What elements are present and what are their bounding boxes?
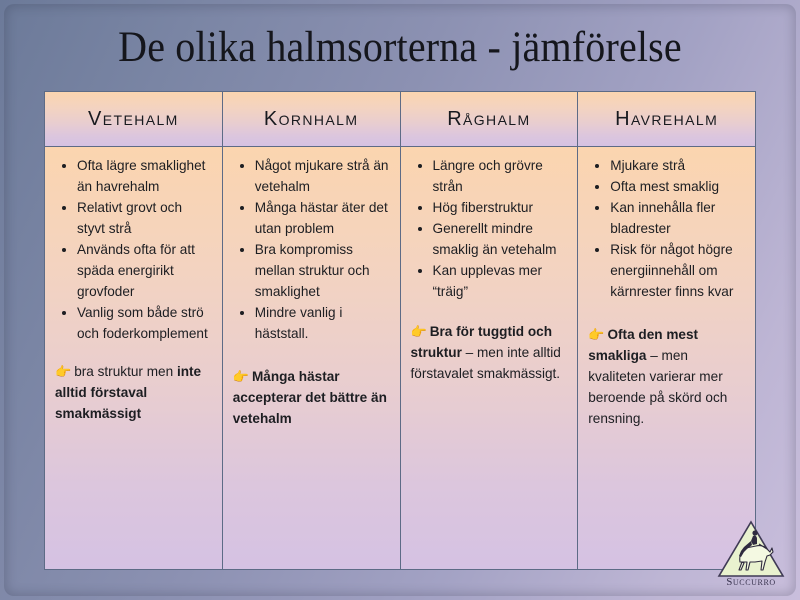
summary-note: 👉Ofta den mest smakliga – men kvaliteten… bbox=[588, 324, 745, 429]
list-item: Kan innehålla fler bladrester bbox=[610, 197, 745, 239]
bullet-list: Mjukare strå Ofta mest smaklig Kan inneh… bbox=[588, 155, 745, 302]
list-item: Generellt mindre smaklig än vetehalm bbox=[433, 218, 568, 260]
bullet-list: Något mjukare strå än vetehalm Många häs… bbox=[233, 155, 390, 344]
column-header-label: Havrehalm bbox=[615, 108, 718, 131]
list-item: Ofta mest smaklig bbox=[610, 176, 745, 197]
column-header-label: Vetehalm bbox=[88, 108, 179, 131]
list-item: Kan upplevas mer “träig” bbox=[433, 260, 568, 302]
table-header-cell-havrehalm: Havrehalm bbox=[578, 92, 755, 147]
summary-lead: bra struktur men bbox=[74, 364, 177, 379]
list-item: Ofta lägre smaklighet än havrehalm bbox=[77, 155, 212, 197]
table-header-cell-raghalm: Råghalm bbox=[401, 92, 579, 147]
summary-note: 👉Bra för tuggtid och struktur – men inte… bbox=[411, 321, 568, 384]
pointing-hand-icon: 👉 bbox=[55, 364, 71, 379]
list-item: Något mjukare strå än vetehalm bbox=[255, 155, 390, 197]
logo: Succurro bbox=[715, 518, 787, 590]
table-body-row: Ofta lägre smaklighet än havrehalm Relat… bbox=[45, 147, 755, 569]
list-item: Hög fiberstruktur bbox=[433, 197, 568, 218]
list-item: Mjukare strå bbox=[610, 155, 745, 176]
list-item: Många hästar äter det utan problem bbox=[255, 197, 390, 239]
list-item: Vanlig som både strö och foderkomplement bbox=[77, 302, 212, 344]
page-title: De olika halmsorterna - jämförelse bbox=[28, 22, 772, 74]
list-item: Bra kompromiss mellan struktur och smakl… bbox=[255, 239, 390, 302]
slide: De olika halmsorterna - jämförelse Veteh… bbox=[0, 0, 800, 600]
list-item: Relativt grovt och styvt strå bbox=[77, 197, 212, 239]
logo-caption: Succurro bbox=[715, 576, 787, 588]
bullet-list: Ofta lägre smaklighet än havrehalm Relat… bbox=[55, 155, 212, 344]
list-item: Risk för något högre energiinnehåll om k… bbox=[610, 239, 745, 302]
table-cell-vetehalm: Ofta lägre smaklighet än havrehalm Relat… bbox=[45, 147, 223, 569]
pointing-hand-icon: 👉 bbox=[233, 369, 249, 384]
bullet-list: Längre och grövre strån Hög fiberstruktu… bbox=[411, 155, 568, 302]
comparison-table: Vetehalm Kornhalm Råghalm Havrehalm Ofta… bbox=[44, 91, 756, 570]
table-header-cell-kornhalm: Kornhalm bbox=[223, 92, 401, 147]
summary-bold: Många hästar accepterar det bättre än ve… bbox=[233, 369, 387, 426]
table-cell-havrehalm: Mjukare strå Ofta mest smaklig Kan inneh… bbox=[578, 147, 755, 569]
table-cell-raghalm: Längre och grövre strån Hög fiberstruktu… bbox=[401, 147, 579, 569]
pointing-hand-icon: 👉 bbox=[588, 327, 604, 342]
column-header-label: Kornhalm bbox=[264, 108, 359, 131]
list-item: Längre och grövre strån bbox=[433, 155, 568, 197]
summary-note: 👉Många hästar accepterar det bättre än v… bbox=[233, 366, 390, 429]
table-header-row: Vetehalm Kornhalm Råghalm Havrehalm bbox=[45, 92, 755, 147]
list-item: Används ofta för att späda energirikt gr… bbox=[77, 239, 212, 302]
table-cell-kornhalm: Något mjukare strå än vetehalm Många häs… bbox=[223, 147, 401, 569]
pointing-hand-icon: 👉 bbox=[411, 324, 427, 339]
table-header-cell-vetehalm: Vetehalm bbox=[45, 92, 223, 147]
column-header-label: Råghalm bbox=[447, 108, 530, 131]
list-item: Mindre vanlig i häststall. bbox=[255, 302, 390, 344]
summary-note: 👉bra struktur men inte alltid förstaval … bbox=[55, 361, 212, 424]
